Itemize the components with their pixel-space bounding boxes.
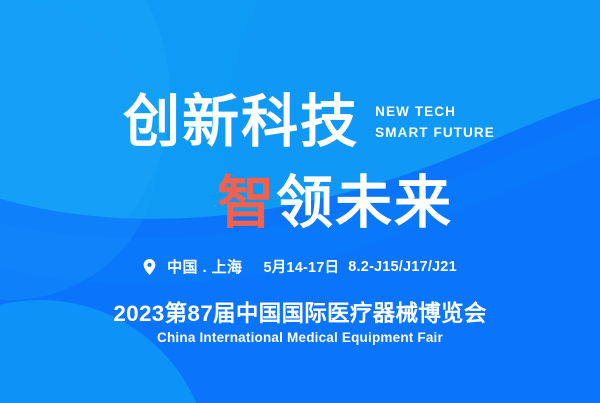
event-name-cn: 2023第87届中国国际医疗器械博览会 (0, 296, 600, 328)
headline-line2-rest: 领未来 (276, 171, 453, 235)
event-promo-banner: 创新科技 NEW TECH SMART FUTURE 智领未来 中国 . 上海 … (0, 0, 600, 403)
event-info-row: 中国 . 上海 5月14-17日 8.2-J15/J17/J21 (0, 256, 600, 277)
tagline-line2: SMART FUTURE (375, 125, 495, 141)
headline-row-primary: 创新科技 NEW TECH SMART FUTURE (0, 92, 600, 152)
event-city: 中国 . 上海 (167, 256, 242, 277)
banner-content: 创新科技 NEW TECH SMART FUTURE 智领未来 中国 . 上海 … (0, 0, 600, 403)
event-name-en: China International Medical Equipment Fa… (0, 330, 600, 345)
event-booth: 8.2-J15/J17/J21 (348, 259, 457, 275)
event-date: 5月14-17日 (263, 256, 339, 277)
location-pin-icon (143, 259, 156, 275)
headline-line2: 智领未来 (217, 172, 453, 234)
headline-row-secondary: 智领未来 (0, 172, 600, 234)
headline-line1: 创新科技 (123, 92, 359, 152)
tagline-line1: NEW TECH (375, 104, 495, 120)
tagline-block: NEW TECH SMART FUTURE (375, 104, 495, 141)
headline-line2-accent-char: 智 (217, 171, 276, 235)
